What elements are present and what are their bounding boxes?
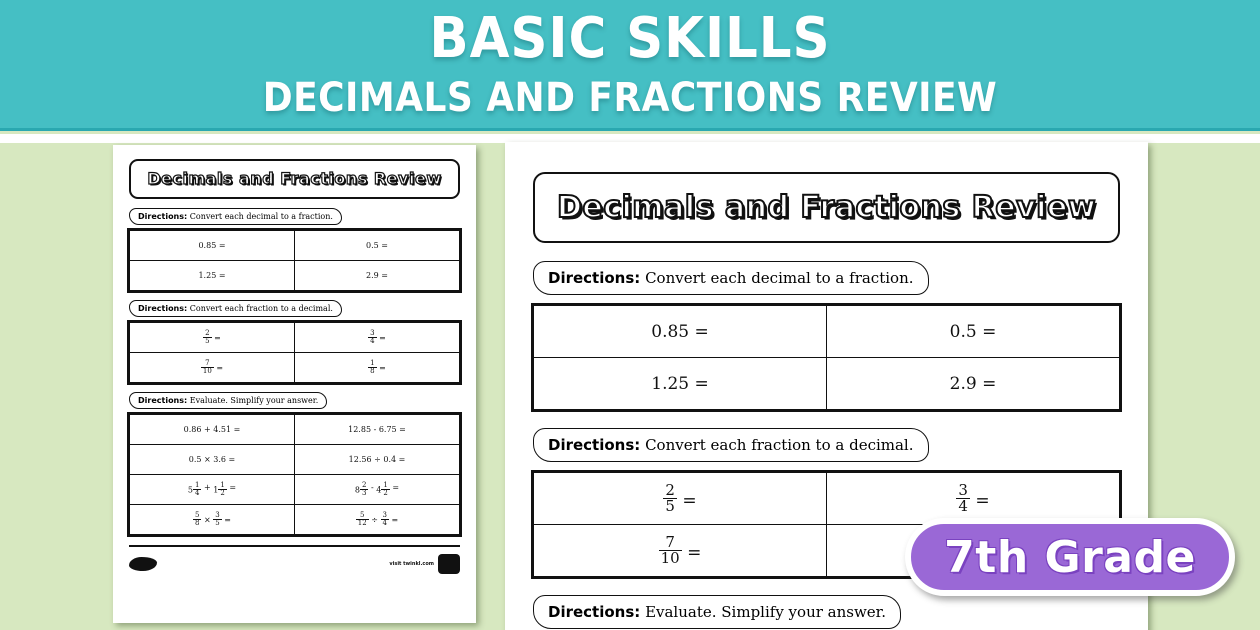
fraction-numerator: 1 xyxy=(218,482,226,489)
operator: ÷ xyxy=(369,516,381,525)
mixed-number: 823 xyxy=(355,482,369,497)
equals-sign: = xyxy=(222,516,231,525)
table-row: 0.85 = 0.5 = xyxy=(534,306,1120,358)
footer-right-group: visit twinkl.com xyxy=(389,554,460,574)
table-row: 7 10 = 1 8 = xyxy=(130,353,460,383)
worksheet-footer: visit twinkl.com xyxy=(129,545,460,575)
equals-sign: = xyxy=(677,491,697,511)
site-url-text: visit twinkl.com xyxy=(389,561,434,567)
decimal-to-fraction-table-small: 0.85 = 0.5 = 1.25 = 2.9 = xyxy=(129,230,460,291)
worksheet-title-small: Decimals and Fractions Review xyxy=(147,169,441,188)
table-cell[interactable]: 12.56 ÷ 0.4 = xyxy=(295,445,460,475)
header-subtitle: DECIMALS AND FRACTIONS REVIEW xyxy=(63,74,1197,122)
table-cell[interactable]: 3 4 = xyxy=(827,473,1120,525)
fraction-glyph: 34 xyxy=(381,512,389,527)
fraction-numerator: 2 xyxy=(203,330,211,337)
table-cell[interactable]: 2 5 = xyxy=(130,323,295,353)
directions-text: Convert each fraction to a decimal. xyxy=(190,304,333,313)
fraction-glyph: 2 5 xyxy=(663,483,677,514)
fraction-glyph: 3 4 xyxy=(956,483,970,514)
equals-sign: = xyxy=(227,483,236,492)
decimal-to-fraction-table-large: 0.85 = 0.5 = 1.25 = 2.9 = xyxy=(533,305,1120,410)
mixed-number: 412 xyxy=(376,482,390,497)
table-cell[interactable]: 3 4 = xyxy=(295,323,460,353)
worksheet-title-plaque-large: Decimals and Fractions Review xyxy=(533,172,1120,243)
table-cell[interactable]: 12.85 - 6.75 = xyxy=(295,415,460,445)
table-row: 2 5 = 3 4 = xyxy=(130,323,460,353)
mixed-number: 112 xyxy=(213,482,227,497)
fraction-denominator: 8 xyxy=(368,367,376,375)
fraction-glyph: 12 xyxy=(218,482,226,497)
fraction-denominator: 4 xyxy=(368,337,376,345)
table-cell[interactable]: 1.25 = xyxy=(130,261,295,291)
equals-sign: = xyxy=(377,364,386,373)
fraction-denominator: 10 xyxy=(659,550,682,566)
table-row: 1.25 = 2.9 = xyxy=(130,261,460,291)
fraction-numerator: 3 xyxy=(381,512,389,519)
directions-pill-small-3: Directions: Evaluate. Simplify your answ… xyxy=(129,392,327,409)
table-cell[interactable]: 0.5 = xyxy=(295,231,460,261)
fraction-glyph: 7 10 xyxy=(659,535,682,566)
fraction-numerator: 7 xyxy=(659,535,682,550)
directions-pill-small-1: Directions: Convert each decimal to a fr… xyxy=(129,208,342,225)
equals-sign: = xyxy=(389,516,398,525)
fraction-glyph: 3 4 xyxy=(368,330,376,345)
table-cell[interactable]: 58 × 35 = xyxy=(130,505,295,535)
table-cell[interactable]: 823 - 412 = xyxy=(295,475,460,505)
worksheet-page-thumbnail[interactable]: Decimals and Fractions Review Directions… xyxy=(113,145,476,623)
twinkl-blob-logo-icon xyxy=(129,557,157,571)
directions-text: Convert each decimal to a fraction. xyxy=(645,269,913,287)
directions-label: Directions: xyxy=(138,396,187,405)
fraction-denominator: 2 xyxy=(381,489,389,497)
table-row: 1.25 = 2.9 = xyxy=(534,358,1120,410)
fraction-glyph: 512 xyxy=(356,512,369,527)
fraction-glyph: 7 10 xyxy=(201,360,214,375)
evaluate-table-small: 0.86 + 4.51 = 12.85 - 6.75 = 0.5 × 3.6 =… xyxy=(129,414,460,535)
fraction-glyph: 2 5 xyxy=(203,330,211,345)
worksheet-title-large: Decimals and Fractions Review xyxy=(557,190,1096,225)
directions-label: Directions: xyxy=(548,269,640,287)
directions-label: Directions: xyxy=(138,212,187,221)
fraction-glyph: 35 xyxy=(213,512,221,527)
equals-sign: = xyxy=(390,483,399,492)
grade-badge-label: 7th Grade xyxy=(944,532,1196,583)
fraction-numerator: 5 xyxy=(356,512,369,519)
header-banner: BASIC SKILLS DECIMALS AND FRACTIONS REVI… xyxy=(0,0,1260,131)
operator: - xyxy=(368,483,376,492)
fraction-denominator: 2 xyxy=(218,489,226,497)
table-row: 514 + 112 = 823 - 412 = xyxy=(130,475,460,505)
fraction-glyph: 1 8 xyxy=(368,360,376,375)
operator: × xyxy=(201,516,213,525)
table-cell[interactable]: 7 10 = xyxy=(130,353,295,383)
equals-sign: = xyxy=(212,334,221,343)
table-cell[interactable]: 0.5 = xyxy=(827,306,1120,358)
fraction-denominator: 12 xyxy=(356,519,369,527)
fraction-denominator: 5 xyxy=(663,498,677,514)
table-cell[interactable]: 0.85 = xyxy=(130,231,295,261)
table-cell[interactable]: 2 5 = xyxy=(534,473,827,525)
screenshot-stage: BASIC SKILLS DECIMALS AND FRACTIONS REVI… xyxy=(0,0,1260,630)
fraction-numerator: 3 xyxy=(368,330,376,337)
fraction-denominator: 5 xyxy=(213,519,221,527)
table-cell[interactable]: 2.9 = xyxy=(827,358,1120,410)
table-row: 58 × 35 = 512 ÷ 34 = xyxy=(130,505,460,535)
fraction-numerator: 1 xyxy=(368,360,376,367)
fraction-glyph: 12 xyxy=(381,482,389,497)
directions-pill-large-3: Directions: Evaluate. Simplify your answ… xyxy=(533,595,901,629)
table-row: 0.86 + 4.51 = 12.85 - 6.75 = xyxy=(130,415,460,445)
directions-label: Directions: xyxy=(548,603,640,621)
table-cell[interactable]: 0.5 × 3.6 = xyxy=(130,445,295,475)
table-row: 0.85 = 0.5 = xyxy=(130,231,460,261)
twinkl-mark-logo-icon xyxy=(438,554,460,574)
fraction-to-decimal-table-small: 2 5 = 3 4 = 7 10 = xyxy=(129,322,460,383)
directions-pill-small-2: Directions: Convert each fraction to a d… xyxy=(129,300,342,317)
table-row: 2 5 = 3 4 = xyxy=(534,473,1120,525)
fraction-numerator: 3 xyxy=(956,483,970,498)
fraction-denominator: 4 xyxy=(381,519,389,527)
equals-sign: = xyxy=(214,364,223,373)
table-cell[interactable]: 2.9 = xyxy=(295,261,460,291)
mixed-number: 514 xyxy=(188,482,202,497)
table-cell[interactable]: 0.85 = xyxy=(534,306,827,358)
operator: + xyxy=(201,483,213,492)
fraction-denominator: 4 xyxy=(956,498,970,514)
directions-pill-large-1: Directions: Convert each decimal to a fr… xyxy=(533,261,929,295)
directions-text: Evaluate. Simplify your answer. xyxy=(190,396,318,405)
header-main-title: BASIC SKILLS xyxy=(50,8,1209,70)
table-cell[interactable]: 1 8 = xyxy=(295,353,460,383)
table-cell[interactable]: 1.25 = xyxy=(534,358,827,410)
grade-badge[interactable]: 7th Grade xyxy=(905,518,1235,596)
directions-text: Convert each decimal to a fraction. xyxy=(190,212,333,221)
equals-sign: = xyxy=(377,334,386,343)
directions-label: Directions: xyxy=(548,436,640,454)
table-cell[interactable]: 0.86 + 4.51 = xyxy=(130,415,295,445)
fraction-denominator: 10 xyxy=(201,367,214,375)
table-cell[interactable]: 512 ÷ 34 = xyxy=(295,505,460,535)
fraction-numerator: 3 xyxy=(213,512,221,519)
directions-pill-large-2: Directions: Convert each fraction to a d… xyxy=(533,428,929,462)
worksheet-title-plaque-small: Decimals and Fractions Review xyxy=(129,159,460,199)
fraction-numerator: 7 xyxy=(201,360,214,367)
fraction-denominator: 5 xyxy=(203,337,211,345)
table-cell[interactable]: 7 10 = xyxy=(534,525,827,577)
fraction-numerator: 2 xyxy=(663,483,677,498)
directions-text: Convert each fraction to a decimal. xyxy=(645,436,913,454)
fraction-numerator: 1 xyxy=(381,482,389,489)
equals-sign: = xyxy=(970,491,990,511)
equals-sign: = xyxy=(682,543,702,563)
table-cell[interactable]: 514 + 112 = xyxy=(130,475,295,505)
table-row: 0.5 × 3.6 = 12.56 ÷ 0.4 = xyxy=(130,445,460,475)
directions-text: Evaluate. Simplify your answer. xyxy=(645,603,886,621)
directions-label: Directions: xyxy=(138,304,187,313)
